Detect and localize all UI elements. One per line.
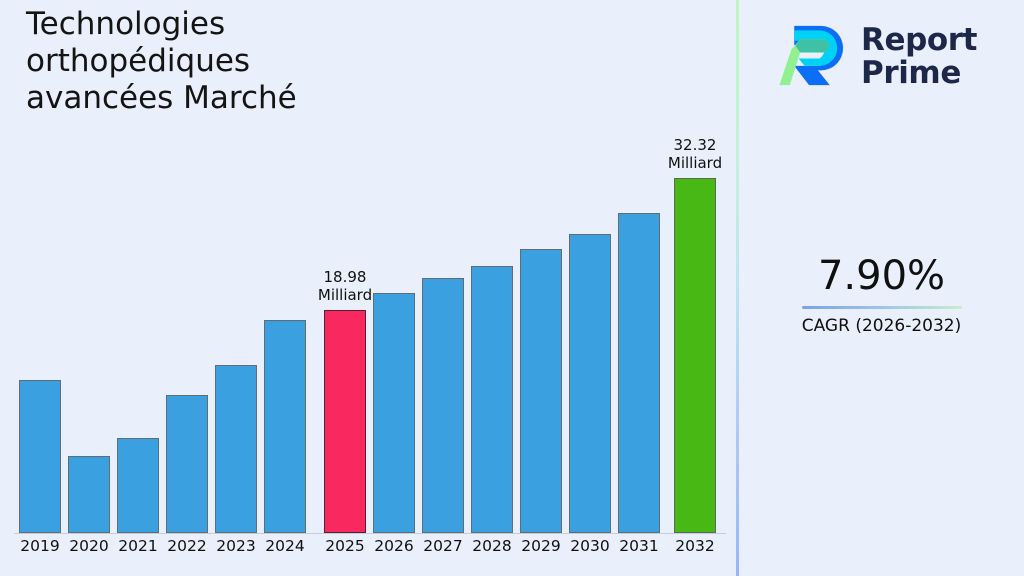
cagr-divider-rule: [802, 306, 962, 309]
x-tick-label-2030: 2030: [565, 537, 615, 555]
cagr-caption: CAGR (2026-2032): [739, 316, 1024, 337]
brand-panel: Report Prime 7.90% CAGR (2026-2032): [739, 0, 1024, 576]
cagr-stat: 7.90% CAGR (2026-2032): [739, 252, 1024, 337]
x-tick-label-2027: 2027: [418, 537, 468, 555]
bar-chart-plot-area: 201920202021202220232024202518.98 Millia…: [0, 0, 737, 576]
bar-2025: [324, 310, 366, 533]
x-tick-label-2028: 2028: [467, 537, 517, 555]
x-tick-label-2023: 2023: [211, 537, 261, 555]
x-tick-label-2031: 2031: [614, 537, 664, 555]
x-tick-label-2029: 2029: [516, 537, 566, 555]
bar-2023: [215, 365, 257, 533]
x-tick-label-2025: 2025: [320, 537, 370, 555]
x-tick-label-2022: 2022: [162, 537, 212, 555]
bar-2028: [471, 266, 513, 533]
bar-2019: [19, 380, 61, 533]
bar-2027: [422, 278, 464, 533]
cagr-value: 7.90%: [739, 252, 1024, 300]
bar-2024: [264, 320, 306, 533]
bar-2032: [674, 178, 716, 533]
bar-2022: [166, 395, 208, 533]
infographic-canvas: Technologies orthopédiques avancées Marc…: [0, 0, 1024, 576]
x-tick-label-2024: 2024: [260, 537, 310, 555]
bar-2026: [373, 293, 415, 533]
bar-value-label-2032: 32.32 Milliard: [644, 136, 746, 172]
bar-2030: [569, 234, 611, 533]
brand-name: Report Prime: [861, 24, 977, 90]
x-tick-label-2026: 2026: [369, 537, 419, 555]
bar-2029: [520, 249, 562, 533]
bar-2021: [117, 438, 159, 533]
x-tick-label-2020: 2020: [64, 537, 114, 555]
brand-logo[interactable]: Report Prime: [775, 14, 1024, 100]
x-axis-line: [14, 533, 726, 534]
x-tick-label-2019: 2019: [15, 537, 65, 555]
report-prime-r-logo-icon: [775, 20, 849, 94]
x-tick-label-2021: 2021: [113, 537, 163, 555]
bar-2031: [618, 213, 660, 533]
chart-panel: Technologies orthopédiques avancées Marc…: [0, 0, 737, 576]
bar-2020: [68, 456, 110, 533]
x-tick-label-2032: 2032: [670, 537, 720, 555]
